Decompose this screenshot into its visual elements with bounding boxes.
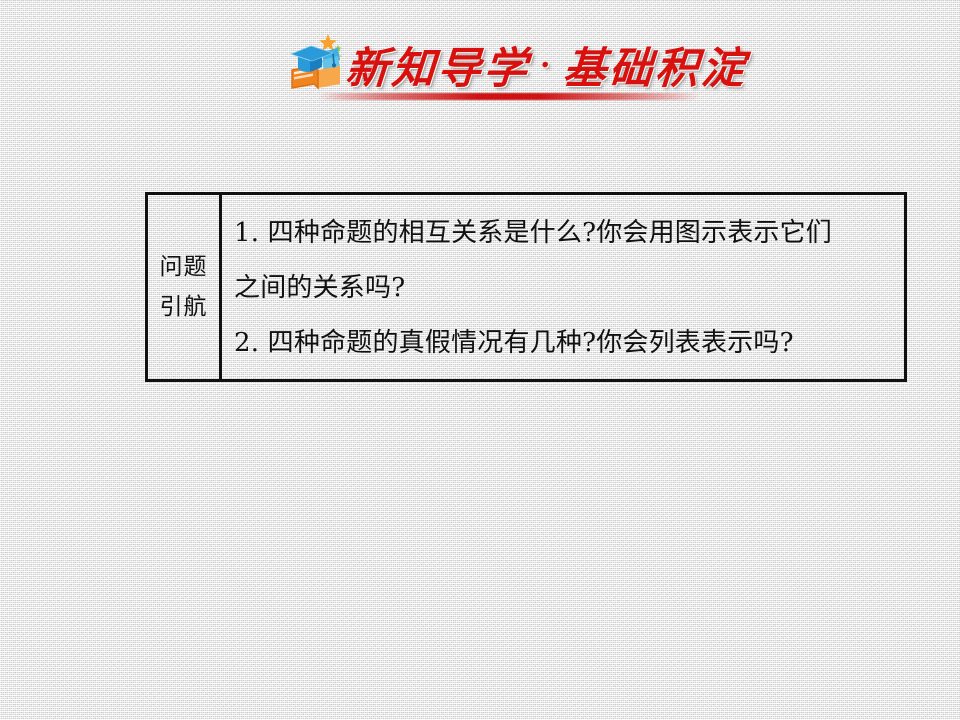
title-part-two: 基础积淀 [561,34,749,96]
title-separator-dot: · [529,48,565,83]
question-line: 1. 四种命题的相互关系是什么?你会用图示表示它们 [234,206,894,261]
table-label-cell: 问题 引航 [148,195,222,379]
table-label-line-1: 问题 [160,247,208,287]
question-line: 之间的关系吗? [234,261,894,316]
question-guide-table: 问题 引航 1. 四种命题的相互关系是什么?你会用图示表示它们 之间的关系吗? … [145,192,907,382]
graduation-cap-book-icon [288,30,344,92]
title-part-one: 新知导学 [344,34,532,96]
title-underline-rule [318,93,700,100]
slide-canvas: 新知导学 · 基础积淀 问题 引航 1. 四种命题的相互关系是什么?你会用图示表… [0,0,960,720]
question-line: 2. 四种命题的真假情况有几种?你会列表表示吗? [234,316,894,371]
page-title: 新知导学 · 基础积淀 [344,34,750,96]
table-content-cell: 1. 四种命题的相互关系是什么?你会用图示表示它们 之间的关系吗? 2. 四种命… [222,195,904,379]
table-label-line-2: 引航 [160,287,208,327]
header-banner: 新知导学 · 基础积淀 [0,18,960,108]
